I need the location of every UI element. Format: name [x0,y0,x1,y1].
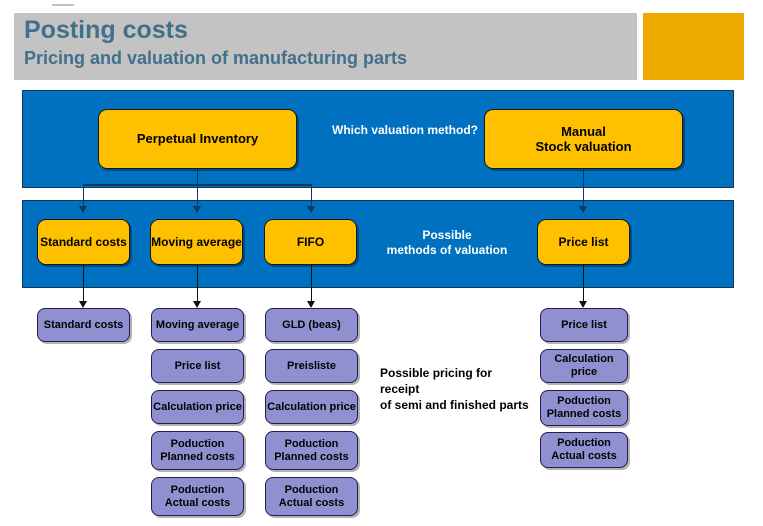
connector-to-standard-costs [83,184,85,206]
item-label-line1: Preisliste [287,360,336,373]
item-label-line2: Actual costs [551,450,616,463]
box-manual-stock-valuation[interactable]: Manual Stock valuation [484,109,683,169]
item-label-line1: Poduction [285,484,339,497]
item-label-line2: Planned costs [160,451,235,464]
arrow-price-list-down [579,301,587,308]
list-item-fifo-calculation-price[interactable]: Calculation price [265,390,358,424]
box-label: Perpetual Inventory [137,131,258,146]
box-method-moving-average[interactable]: Moving average [150,219,243,265]
item-label-line2: Planned costs [547,408,622,421]
box-label: Standard costs [40,235,127,249]
item-label-line2: Actual costs [165,497,230,510]
box-method-standard-costs[interactable]: Standard costs [37,219,130,265]
item-label-line1: Poduction [557,437,611,450]
item-label-line2: Actual costs [279,497,344,510]
arrow-to-fifo [307,206,315,213]
top-rule-decoration [52,4,74,6]
list-item-price-list[interactable]: Price list [540,308,628,342]
item-label-line2: Planned costs [274,451,349,464]
header-accent-block [643,13,744,80]
caption-line2: methods of valuation [377,243,517,258]
arrow-standard-costs-down [79,301,87,308]
arrow-to-moving-average [193,206,201,213]
item-label-line1: Poduction [557,395,611,408]
item-label-line1: Price list [561,319,607,332]
connector-moving-average-down [197,265,199,301]
item-label-line1: Calculation price [153,401,242,414]
box-label-line2: Stock valuation [535,139,631,154]
arrow-to-standard-costs [79,206,87,213]
item-label-line1: Poduction [171,438,225,451]
box-label: Moving average [151,235,242,249]
list-item-moving-poduction-actual[interactable]: Poduction Actual costs [151,477,244,516]
list-item-preisliste[interactable]: Preisliste [265,349,358,383]
arrow-to-price-list [579,206,587,213]
item-label-line1: GLD (beas) [282,319,341,332]
connector-fifo-down [311,265,313,301]
box-label: FIFO [297,235,324,249]
box-perpetual-inventory[interactable]: Perpetual Inventory [98,109,297,169]
list-item-price-poduction-actual[interactable]: Poduction Actual costs [540,432,628,468]
box-method-fifo[interactable]: FIFO [264,219,357,265]
list-item-moving-calculation-price[interactable]: Calculation price [151,390,244,424]
list-item-moving-poduction-planned[interactable]: Poduction Planned costs [151,431,244,470]
pricing-caption-line2: of semi and finished parts [380,397,530,413]
page-title: Posting costs [24,16,188,45]
item-label-line1: Calculation price [541,353,627,379]
connector-to-price-list [583,169,585,206]
item-label-line1: Poduction [171,484,225,497]
item-label-line1: Poduction [285,438,339,451]
item-label-line1: Standard costs [44,319,123,332]
list-item-fifo-poduction-actual[interactable]: Poduction Actual costs [265,477,358,516]
box-label-line1: Manual [561,124,606,139]
label-which-valuation-method: Which valuation method? [318,123,492,138]
connector-price-list-down [583,265,585,301]
box-label: Price list [558,235,608,249]
list-item-price-poduction-planned[interactable]: Poduction Planned costs [540,390,628,426]
question-text: Which valuation method? [332,123,478,137]
list-item-standard-costs[interactable]: Standard costs [37,308,130,342]
list-item-price-calculation-price[interactable]: Calculation price [540,349,628,383]
arrow-fifo-down [307,301,315,308]
connector-perpetual-stem [197,169,199,184]
connector-standard-costs-down [83,265,85,301]
list-item-moving-price-list[interactable]: Price list [151,349,244,383]
caption-line1: Possible [377,228,517,243]
slide-canvas: Posting costs Pricing and valuation of m… [0,0,763,526]
connector-to-fifo [311,184,313,206]
label-possible-pricing-for-receipt: Possible pricing for receipt of semi and… [380,365,530,414]
page-subtitle: Pricing and valuation of manufacturing p… [24,48,407,69]
arrow-moving-average-down [193,301,201,308]
item-label-line1: Moving average [156,319,239,332]
connector-to-moving-average [197,184,199,206]
list-item-gld-beas[interactable]: GLD (beas) [265,308,358,342]
pricing-caption-line1: Possible pricing for receipt [380,365,530,397]
item-label-line1: Price list [175,360,221,373]
label-possible-methods-of-valuation: Possible methods of valuation [377,228,517,259]
item-label-line1: Calculation price [267,401,356,414]
box-method-price-list[interactable]: Price list [537,219,630,265]
list-item-fifo-poduction-planned[interactable]: Poduction Planned costs [265,431,358,470]
list-item-moving-average[interactable]: Moving average [151,308,244,342]
